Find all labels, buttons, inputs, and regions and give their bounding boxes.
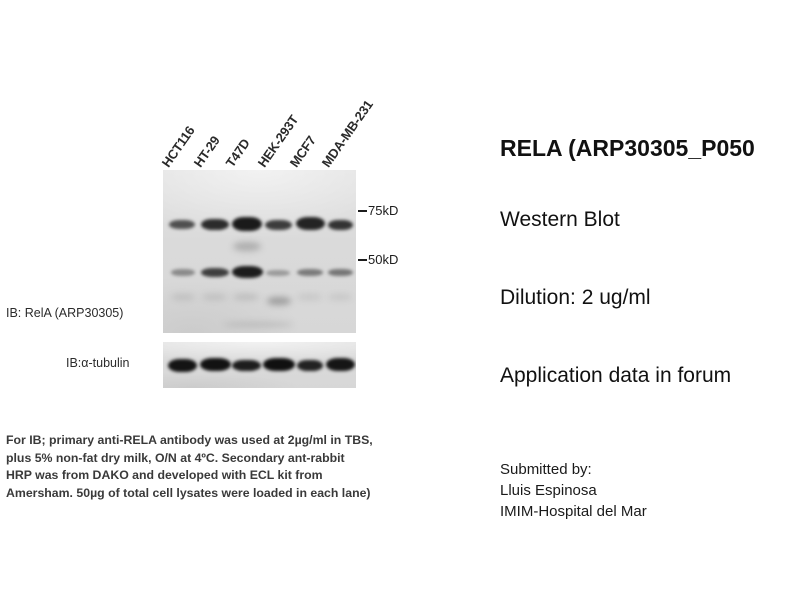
- band-50kd-lane-1: [171, 269, 195, 276]
- band-50kd-lane-6: [328, 269, 353, 276]
- left-tick-icon: [358, 259, 367, 261]
- faint-smear-lane-2-lower: [202, 294, 227, 300]
- submitted-by-label: Submitted by:: [500, 459, 647, 480]
- band-tubulin-lane-1: [168, 359, 197, 372]
- caption-line-1: For IB; primary anti-RELA antibody was u…: [6, 432, 446, 450]
- left-tick-icon: [358, 210, 367, 212]
- submitter-name: Lluis Espinosa: [500, 480, 647, 501]
- faint-smear-lane-5-lower: [297, 294, 322, 300]
- western-blot-figure: HCT116 HT-29 T47D HEK-293T MCF7 MDA-MB-2…: [0, 0, 490, 600]
- faint-smear-lane-1-lower: [171, 294, 195, 300]
- product-title: RELA (ARP30305_P050: [500, 135, 755, 162]
- faint-smear-lane-4-lower: [267, 297, 291, 305]
- faint-smear-lane-3-lower: [233, 294, 259, 300]
- band-tubulin-lane-3: [232, 360, 261, 371]
- band-75kd-lane-2: [201, 219, 229, 230]
- caption-line-2: plus 5% non-fat dry milk, O/N at 4ºC. Se…: [6, 450, 446, 468]
- band-75kd-lane-5: [296, 217, 325, 230]
- dilution-label: Dilution: 2 ug/ml: [500, 286, 651, 310]
- figure-caption: For IB; primary anti-RELA antibody was u…: [6, 432, 446, 502]
- band-50kd-lane-2: [201, 268, 229, 277]
- caption-line-4: Amersham. 50µg of total cell lysates wer…: [6, 485, 446, 503]
- blot-panel-rela: [163, 170, 356, 333]
- lane-label-6: MDA-MB-231: [319, 97, 376, 170]
- lane-label-1: HCT116: [159, 123, 198, 170]
- product-info-panel: RELA (ARP30305_P050 Western Blot Dilutio…: [500, 0, 800, 600]
- lane-label-5: MCF7: [287, 133, 319, 170]
- lane-label-group: HCT116 HT-29 T47D HEK-293T MCF7 MDA-MB-2…: [163, 70, 363, 170]
- band-75kd-lane-6: [328, 220, 353, 230]
- ib-label-rela: IB: RelA (ARP30305): [6, 306, 123, 320]
- band-tubulin-lane-5: [297, 360, 323, 371]
- film-background: [163, 170, 356, 333]
- submitter-affiliation: IMIM-Hospital del Mar: [500, 501, 647, 522]
- band-50kd-lane-3: [232, 266, 263, 278]
- mw-marker-75kd: 75kD: [358, 203, 398, 218]
- submitted-by-block: Submitted by: Lluis Espinosa IMIM-Hospit…: [500, 459, 647, 522]
- mw-marker-75kd-label: 75kD: [368, 203, 398, 218]
- band-tubulin-lane-6: [326, 358, 355, 371]
- technique-label: Western Blot: [500, 208, 620, 232]
- lane-label-2: HT-29: [191, 133, 223, 170]
- band-75kd-lane-1: [169, 220, 195, 229]
- lane-label-3: T47D: [223, 136, 253, 170]
- mw-marker-50kd: 50kD: [358, 252, 398, 267]
- application-data-label: Application data in forum: [500, 364, 731, 388]
- band-tubulin-lane-2: [200, 358, 231, 371]
- band-75kd-lane-4: [265, 220, 292, 230]
- mw-marker-50kd-label: 50kD: [368, 252, 398, 267]
- band-50kd-lane-5: [297, 269, 323, 276]
- band-50kd-lane-4: [266, 270, 290, 276]
- band-75kd-lane-3: [232, 217, 262, 231]
- blot-panel-tubulin: [163, 342, 356, 388]
- faint-smear-bottom-edge: [223, 322, 293, 327]
- band-tubulin-lane-4: [263, 358, 295, 371]
- faint-smear-lane-3-upper: [233, 242, 261, 251]
- faint-smear-lane-6-lower: [328, 294, 352, 300]
- ib-label-tubulin: IB:α-tubulin: [66, 356, 130, 370]
- caption-line-3: HRP was from DAKO and developed with ECL…: [6, 467, 446, 485]
